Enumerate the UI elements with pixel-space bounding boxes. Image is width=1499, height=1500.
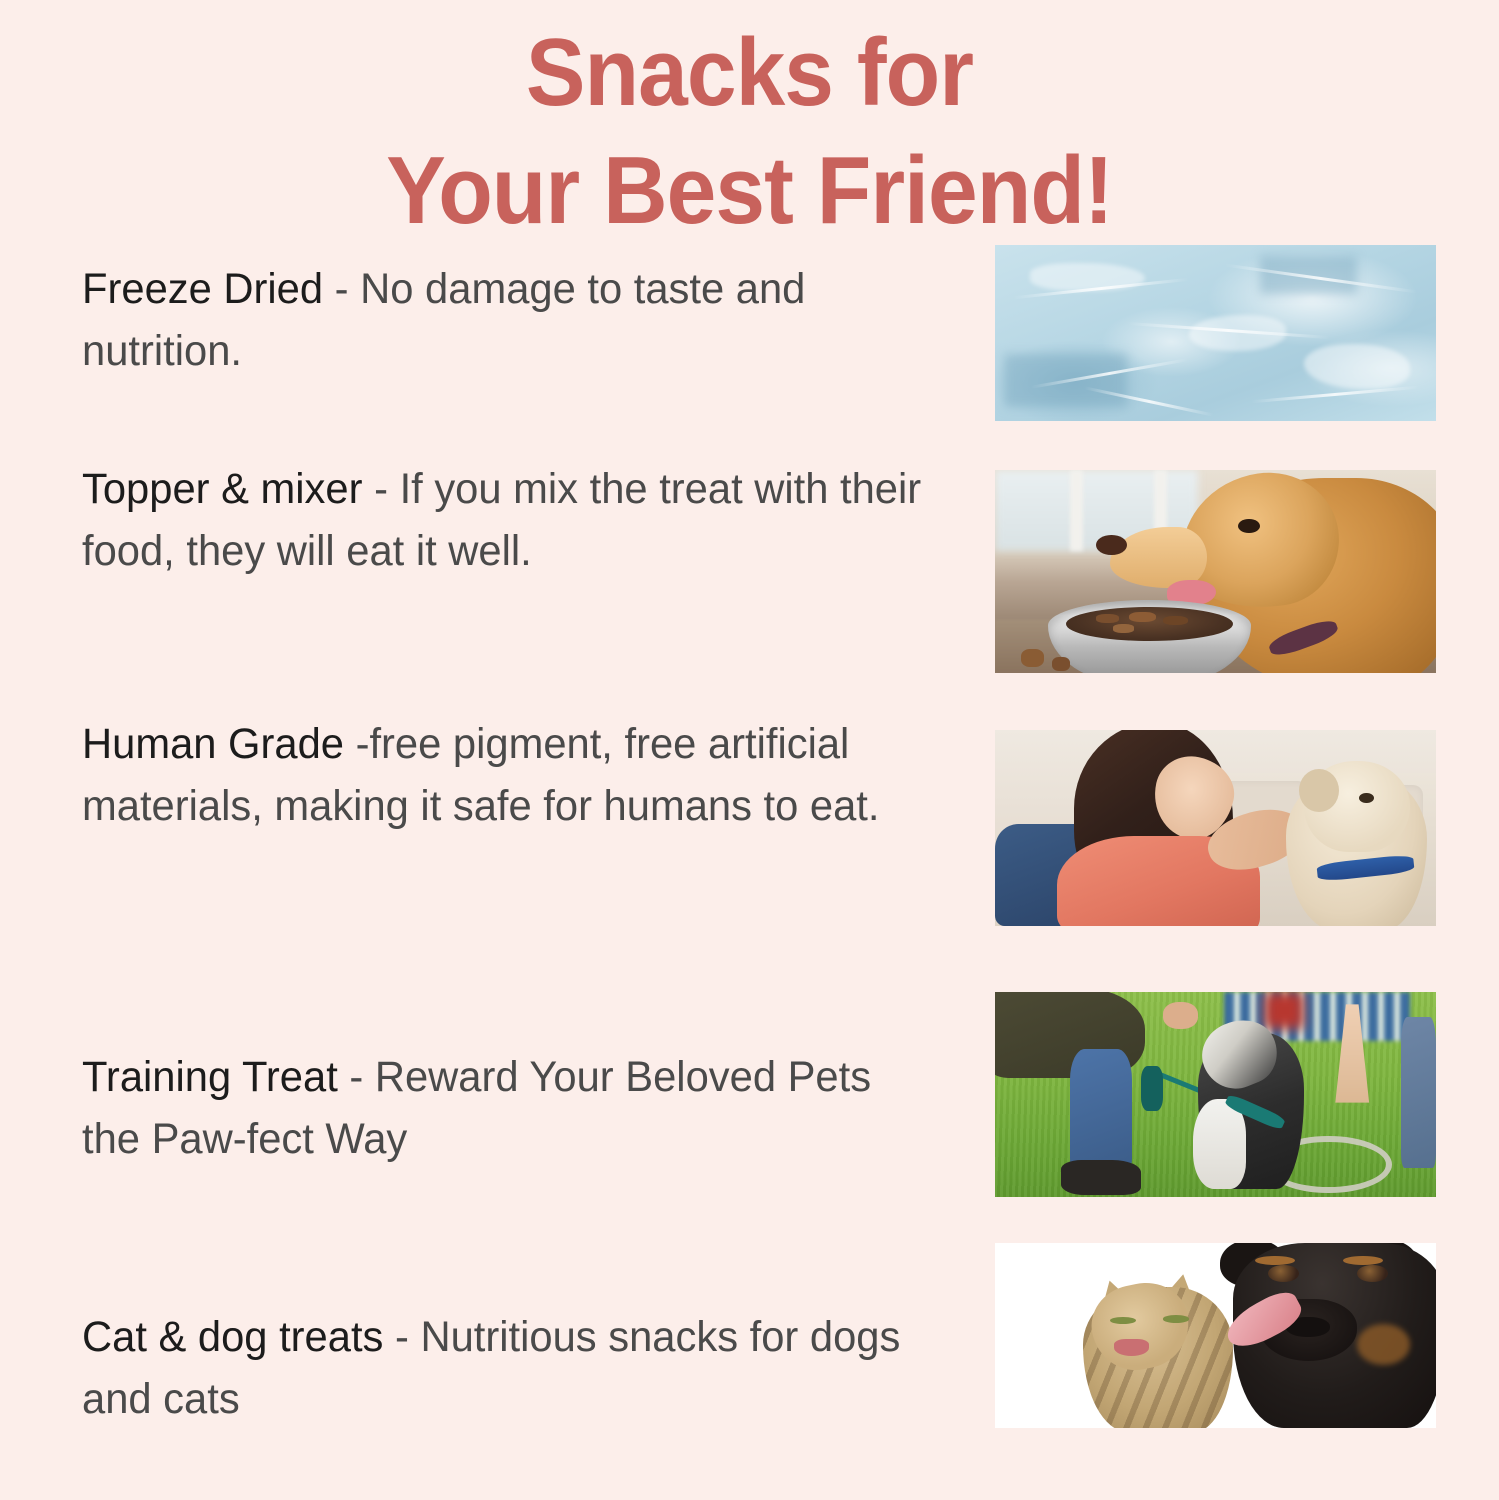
feature-image-woman-puppy (995, 730, 1436, 926)
feature-image-dog-bowl (995, 470, 1436, 673)
feature-text-freeze-dried: Freeze Dried - No damage to taste and nu… (82, 258, 926, 382)
feature-image-ice-texture (995, 245, 1436, 421)
feature-lead-topper-mixer: Topper & mixer (82, 465, 362, 513)
feature-lead-training-treat: Training Treat (82, 1053, 338, 1101)
feature-lead-cat-dog-treats: Cat & dog treats (82, 1313, 383, 1361)
ice-texture-illustration (995, 245, 1436, 421)
feature-text-training-treat: Training Treat - Reward Your Beloved Pet… (82, 1046, 926, 1170)
feature-lead-freeze-dried: Freeze Dried (82, 265, 323, 313)
feature-text-topper-mixer: Topper & mixer - If you mix the treat wi… (82, 458, 926, 582)
feature-image-training (995, 992, 1436, 1197)
feature-text-cat-dog-treats: Cat & dog treats - Nutritious snacks for… (82, 1306, 926, 1430)
feature-lead-human-grade: Human Grade (82, 720, 344, 768)
cat-and-dog-illustration (995, 1243, 1436, 1428)
feature-image-cat-dog (995, 1243, 1436, 1428)
husky-training-illustration (995, 992, 1436, 1197)
golden-retriever-bowl-illustration (995, 470, 1436, 673)
woman-feeding-puppy-illustration (995, 730, 1436, 926)
feature-text-human-grade: Human Grade -free pigment, free artifici… (82, 713, 926, 837)
feature-list: Freeze Dried - No damage to taste and nu… (0, 0, 1499, 1500)
